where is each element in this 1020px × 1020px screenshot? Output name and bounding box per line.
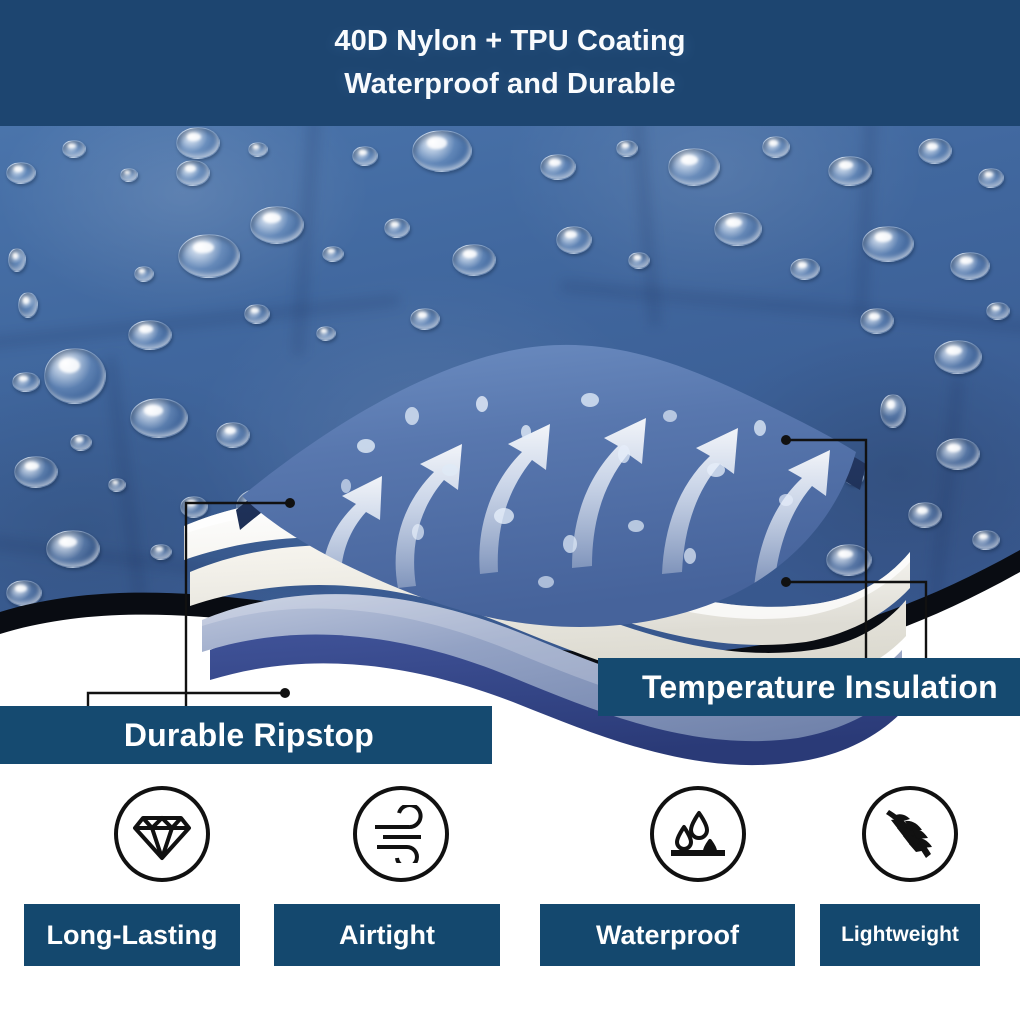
water-droplet <box>176 160 210 186</box>
water-droplet <box>178 234 240 278</box>
header-banner: 40D Nylon + TPU Coating Waterproof and D… <box>0 0 1020 126</box>
callout-label-temperature-insulation: Temperature Insulation <box>642 669 998 706</box>
water-droplet <box>762 136 790 158</box>
water-droplet <box>18 292 38 318</box>
water-droplet <box>216 422 250 448</box>
water-droplet <box>180 496 208 518</box>
feature-label-airtight: Airtight <box>339 920 435 951</box>
water-droplet <box>128 320 172 350</box>
feature-long-lasting: Long-Lasting <box>24 786 240 966</box>
feature-row: Long-Lasting Airtight <box>0 786 1020 1020</box>
water-droplet <box>46 530 100 568</box>
water-droplet <box>248 142 268 157</box>
callout-banner-temperature-insulation: Temperature Insulation <box>598 658 1020 716</box>
feature-label-lightweight: Lightweight <box>841 923 959 947</box>
water-droplet <box>978 168 1004 188</box>
water-droplet <box>616 140 638 157</box>
water-droplet <box>860 308 894 334</box>
callout-banner-durable-ripstop: Durable Ripstop <box>0 706 492 764</box>
water-droplet <box>690 396 708 410</box>
water-droplet <box>120 168 138 182</box>
feature-label-waterproof: Waterproof <box>596 920 739 951</box>
water-droplet <box>972 530 1000 550</box>
water-droplet <box>714 212 762 246</box>
water-droplet <box>986 302 1010 320</box>
water-droplet <box>844 470 864 485</box>
water-droplet <box>176 127 220 159</box>
water-droplet <box>828 156 872 186</box>
feather-icon <box>862 786 958 882</box>
callout-label-durable-ripstop: Durable Ripstop <box>124 717 374 754</box>
feature-label-long-lasting: Long-Lasting <box>47 920 218 951</box>
water-droplet <box>762 424 782 440</box>
water-droplet <box>412 130 472 172</box>
water-droplet <box>62 140 86 158</box>
feature-pill-lightweight: Lightweight <box>820 904 980 966</box>
water-droplet <box>908 502 942 528</box>
water-droplet <box>936 438 980 470</box>
water-droplet <box>130 398 188 438</box>
feature-pill-airtight: Airtight <box>274 904 500 966</box>
feature-waterproof: Waterproof <box>540 786 795 966</box>
water-droplet <box>6 162 36 184</box>
water-droplet <box>322 246 344 262</box>
water-droplet <box>384 218 410 238</box>
header-title-line-2: Waterproof and Durable <box>344 66 675 103</box>
water-droplet <box>826 544 872 576</box>
water-droplet <box>316 326 336 341</box>
water-droplet <box>918 138 952 164</box>
water-droplet <box>236 488 286 524</box>
header-ghost-text: 40D Nylon + TPU Coating Waterproof and D… <box>0 0 1020 126</box>
water-droplet <box>556 226 592 254</box>
water-droplet <box>14 456 58 488</box>
water-droplet <box>352 146 378 166</box>
water-droplet <box>250 206 304 244</box>
water-droplet <box>628 252 650 269</box>
water-droplet <box>134 266 154 282</box>
water-droplet <box>244 304 270 324</box>
infographic-page: 40D Nylon + TPU Coating Waterproof and D… <box>0 0 1020 1020</box>
feature-pill-long-lasting: Long-Lasting <box>24 904 240 966</box>
water-droplet <box>862 226 914 262</box>
fabric-photo-background <box>0 126 1020 686</box>
water-droplet <box>540 154 576 180</box>
water-droplet <box>150 544 172 560</box>
water-droplet <box>950 252 990 280</box>
water-droplet <box>12 372 40 392</box>
feature-lightweight: Lightweight <box>820 786 980 966</box>
water-droplet <box>410 308 440 330</box>
water-droplet <box>668 148 720 186</box>
feature-airtight: Airtight <box>274 786 500 966</box>
header-title-line-1: 40D Nylon + TPU Coating <box>334 23 685 60</box>
water-droplet <box>108 478 126 492</box>
water-droplet <box>790 258 820 280</box>
feature-pill-waterproof: Waterproof <box>540 904 795 966</box>
water-droplet <box>6 580 42 606</box>
water-droplet <box>70 434 92 451</box>
water-droplet <box>934 340 982 374</box>
water-droplet <box>44 348 106 404</box>
water-droplet <box>880 394 906 428</box>
water-droplet <box>452 244 496 276</box>
wind-icon <box>353 786 449 882</box>
diamond-icon <box>114 786 210 882</box>
water-droplet <box>8 248 26 272</box>
water-drop-surface-icon <box>650 786 746 882</box>
